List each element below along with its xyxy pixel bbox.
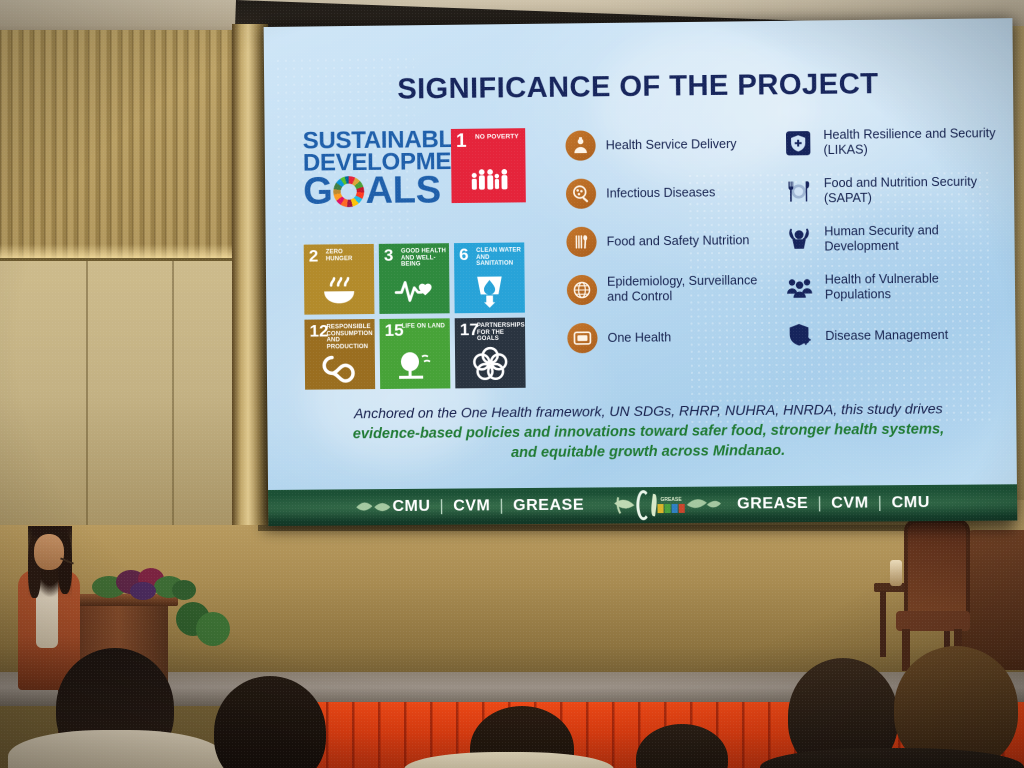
topic-row: One Health [567,318,774,356]
footer-right-group: GREASE | CVM | CMU [737,494,930,514]
slide-footer-band: CMU | CVM | GREASE GREASE [268,484,1017,526]
sdg-tile: 1 NO POVERTY [451,128,526,203]
sdg-tile-name: GOOD HEALTH AND WELL-BEING [401,248,446,269]
leaf-ornament-mid-left [598,493,636,517]
sdg-tile-name: ZERO HUNGER [326,249,371,263]
sdg-tile-name: CLEAN WATER AND SANITATION [476,247,521,268]
doctor-icon [565,130,595,160]
logo-block [672,503,678,512]
footer-cvm-left: CVM [453,497,490,515]
steaming-bowl-icon [304,270,374,311]
topic-label: Epidemiology, Surveillance and Control [607,273,774,304]
foliage [196,612,230,646]
topic-label: Human Security and Development [824,223,1001,254]
sdg-tile-number: 3 [384,247,394,264]
right-topic-column: Health Resilience and Security (LIKAS) F… [783,123,1003,366]
infinity-loop-icon [305,345,375,386]
chair-seat [896,611,970,631]
shield-virus-icon [785,321,816,351]
ornate-chair [896,519,970,667]
fluted-wall-panel-left [0,30,258,525]
footer-separator: | [499,497,504,515]
water-glass-arrow-icon [454,269,525,310]
sdg-tile: 15 LIFE ON LAND [380,318,451,389]
grease-logo-icon: GREASE [636,490,685,520]
footer-separator: | [817,495,822,513]
sdg-tile-name: LIFE ON LAND [402,323,447,330]
topic-row: Epidemiology, Surveillance and Control [567,270,774,308]
side-table-leg [880,591,886,657]
audience-shoulders [8,730,224,768]
sdg-tile-number: 6 [459,246,469,263]
footer-left-group: CMU | CVM | GREASE [392,497,584,516]
topic-row: Health Service Delivery [565,125,772,163]
topic-label: Health Resilience and Security (LIKAS) [823,126,1000,158]
topic-row: Food and Nutrition Security (SAPAT) [783,171,1001,209]
topic-label: Health of Vulnerable Populations [825,271,1002,302]
footer-grease-right: GREASE [737,495,808,514]
footer-separator: | [878,494,883,512]
topic-label: Food and Nutrition Security (SAPAT) [824,175,1001,206]
globe-network-icon [567,275,597,305]
footer-separator: | [439,498,444,516]
wall-lower-panels [0,258,258,561]
sdg-tile: 12 RESPONSIBLE CONSUMPTION AND PRODUCTIO… [304,319,375,390]
topic-label: Disease Management [825,327,948,343]
sdg-tile: 6 CLEAN WATER AND SANITATION [454,242,525,313]
topic-row: Human Security and Development [784,220,1002,258]
topic-label: Food and Safety Nutrition [607,233,750,249]
foliage [172,580,196,600]
topic-row: Infectious Diseases [566,174,773,212]
sdg-tile-number: 2 [309,247,319,264]
chair-leg [902,629,910,671]
topic-label: One Health [608,330,672,345]
leaf-ornament-mid-right [685,493,724,517]
presentation-slide: SIGNIFICANCE OF THE PROJECT SUSTAINABLE … [264,18,1018,526]
sdg-tile: 2 ZERO HUNGER [304,244,375,315]
sdg-color-wheel-icon [333,176,364,207]
sdg-tile-name: NO POVERTY [475,133,522,141]
heartbeat-line-icon [379,269,450,310]
logo-text-block: GREASE [657,497,684,512]
sdg-tile-number: 1 [456,132,467,151]
leaf-ornament-left [354,495,392,519]
footer-grease-left: GREASE [513,497,584,516]
speaker-head [34,534,64,570]
flower [130,582,156,600]
logo-grease-text: GREASE [660,497,681,502]
stage-plant [176,602,236,652]
fork-plate-knife-icon [783,176,814,206]
shield-cross-icon [783,128,814,158]
sdg-logo-als: ALS [365,173,441,209]
topic-row: Food and Safety Nutrition [566,222,773,260]
sdg-logo-g: G [303,174,333,209]
interlocking-circles-icon [455,344,526,385]
topic-row: Health Resilience and Security (LIKAS) [783,123,1001,162]
family-group-icon [451,158,526,199]
projection-screen: SIGNIFICANCE OF THE PROJECT SUSTAINABLE … [264,18,1018,526]
screen-monitor-icon [567,323,597,353]
screenshot-root: SIGNIFICANCE OF THE PROJECT SUSTAINABLE … [0,0,1024,768]
logo-block [665,503,671,512]
topic-label: Health Service Delivery [606,137,737,153]
middle-topic-column: Health Service Delivery Infectious Disea… [565,125,774,368]
topic-row: Health of Vulnerable Populations [784,268,1002,306]
slide-quote: Anchored on the One Health framework, UN… [321,399,976,466]
person-raised-arms-icon [784,225,815,255]
topic-label: Infectious Diseases [606,185,715,201]
sdg-tile-group-top: 1 NO POVERTY [451,128,526,203]
sdg-tile: 3 GOOD HEALTH AND WELL-BEING [379,243,450,314]
tree-birds-icon [380,344,451,385]
logo-color-blocks [657,503,684,512]
logo-block [657,504,663,513]
flower-arrangement [92,566,198,606]
footer-cvm-right: CVM [831,494,869,512]
chair-backrest [904,519,970,623]
magnifier-germs-icon [566,179,596,209]
topic-row: Disease Management [785,316,1003,354]
sdg-tile-name: PARTNERSHIPS FOR THE GOALS [477,323,522,344]
sdg-tile: 17 PARTNERSHIPS FOR THE GOALS [455,318,526,389]
footer-cmu-right: CMU [891,494,930,512]
cutlery-plate-icon [566,227,596,257]
footer-cmu-left: CMU [392,498,430,516]
sdg-tile-grid: 2 ZERO HUNGER 3 GOOD HEALTH AND WELL-BEI… [304,242,528,389]
logo-g-ring [636,490,650,520]
people-group-icon [784,273,815,303]
